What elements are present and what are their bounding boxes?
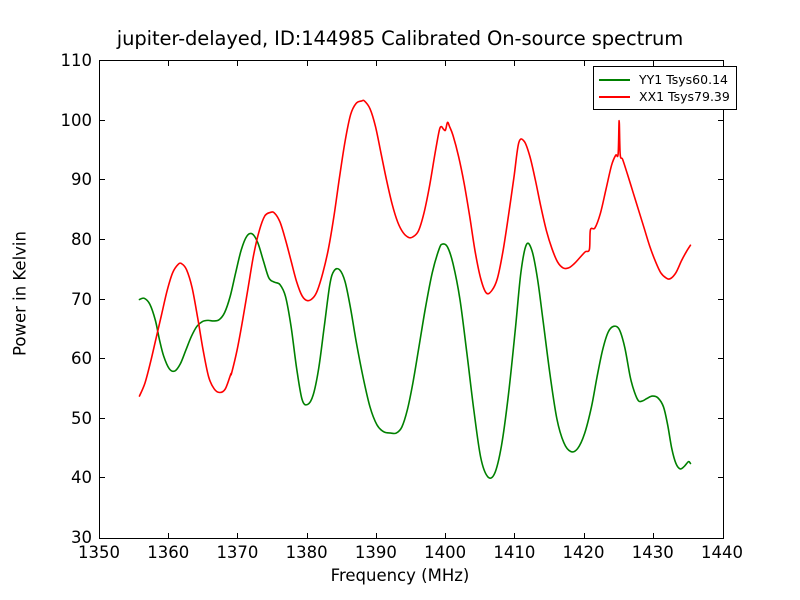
legend-item: YY1 Tsys60.14 bbox=[599, 71, 730, 88]
x-tick-mark bbox=[376, 61, 377, 66]
y-tick-label: 100 bbox=[4, 111, 92, 130]
x-axis-label: Frequency (MHz) bbox=[0, 566, 800, 585]
figure-canvas: jupiter-delayed, ID:144985 Calibrated On… bbox=[0, 0, 800, 600]
x-tick-label: 1440 bbox=[682, 543, 762, 562]
x-tick-mark bbox=[307, 61, 308, 66]
x-tick-label: 1410 bbox=[474, 543, 554, 562]
legend-label-yy1: YY1 Tsys60.14 bbox=[639, 72, 728, 87]
x-tick-label: 1430 bbox=[613, 543, 693, 562]
y-axis-label: Power in Kelvin bbox=[11, 214, 30, 374]
legend-item: XX1 Tsys79.39 bbox=[599, 88, 730, 105]
y-tick-mark bbox=[100, 418, 105, 419]
legend-swatch-xx1 bbox=[599, 96, 630, 98]
x-tick-mark bbox=[237, 61, 238, 66]
x-tick-mark bbox=[445, 533, 446, 538]
x-tick-mark bbox=[168, 61, 169, 66]
y-tick-mark bbox=[100, 179, 105, 180]
legend: YY1 Tsys60.14 XX1 Tsys79.39 bbox=[593, 66, 737, 110]
x-tick-label: 1420 bbox=[544, 543, 624, 562]
x-tick-label: 1370 bbox=[197, 543, 277, 562]
y-tick-mark bbox=[718, 477, 723, 478]
y-tick-label: 40 bbox=[4, 468, 92, 487]
x-tick-label: 1400 bbox=[405, 543, 485, 562]
y-tick-mark bbox=[100, 358, 105, 359]
y-tick-label: 110 bbox=[4, 51, 92, 70]
x-tick-mark bbox=[445, 61, 446, 66]
y-tick-mark bbox=[718, 299, 723, 300]
y-tick-mark bbox=[718, 239, 723, 240]
legend-swatch-yy1 bbox=[599, 79, 630, 81]
y-tick-label: 90 bbox=[4, 170, 92, 189]
x-tick-mark bbox=[653, 61, 654, 66]
y-tick-mark bbox=[718, 120, 723, 121]
plot-area: YY1 Tsys60.14 XX1 Tsys79.39 bbox=[99, 60, 724, 539]
page-title: jupiter-delayed, ID:144985 Calibrated On… bbox=[0, 27, 800, 50]
x-axis-tick-labels: 1350136013701380139014001410142014301440 bbox=[0, 543, 800, 567]
x-tick-mark bbox=[376, 533, 377, 538]
x-tick-label: 1350 bbox=[59, 543, 139, 562]
series-line bbox=[139, 233, 690, 478]
y-tick-mark bbox=[718, 179, 723, 180]
y-tick-mark bbox=[100, 477, 105, 478]
x-tick-mark bbox=[168, 533, 169, 538]
y-tick-mark bbox=[100, 120, 105, 121]
x-tick-mark bbox=[307, 533, 308, 538]
y-tick-mark bbox=[100, 299, 105, 300]
x-tick-mark bbox=[653, 533, 654, 538]
y-tick-label: 50 bbox=[4, 409, 92, 428]
x-tick-label: 1390 bbox=[336, 543, 416, 562]
x-tick-mark bbox=[514, 533, 515, 538]
series-line bbox=[139, 100, 690, 396]
y-tick-mark bbox=[718, 358, 723, 359]
y-tick-mark bbox=[718, 418, 723, 419]
y-tick-mark bbox=[100, 239, 105, 240]
x-tick-mark bbox=[514, 61, 515, 66]
x-tick-mark bbox=[584, 533, 585, 538]
x-tick-label: 1360 bbox=[128, 543, 208, 562]
x-tick-mark bbox=[584, 61, 585, 66]
x-tick-label: 1380 bbox=[267, 543, 347, 562]
series-lines bbox=[100, 61, 723, 538]
x-tick-mark bbox=[237, 533, 238, 538]
legend-label-xx1: XX1 Tsys79.39 bbox=[639, 89, 730, 104]
